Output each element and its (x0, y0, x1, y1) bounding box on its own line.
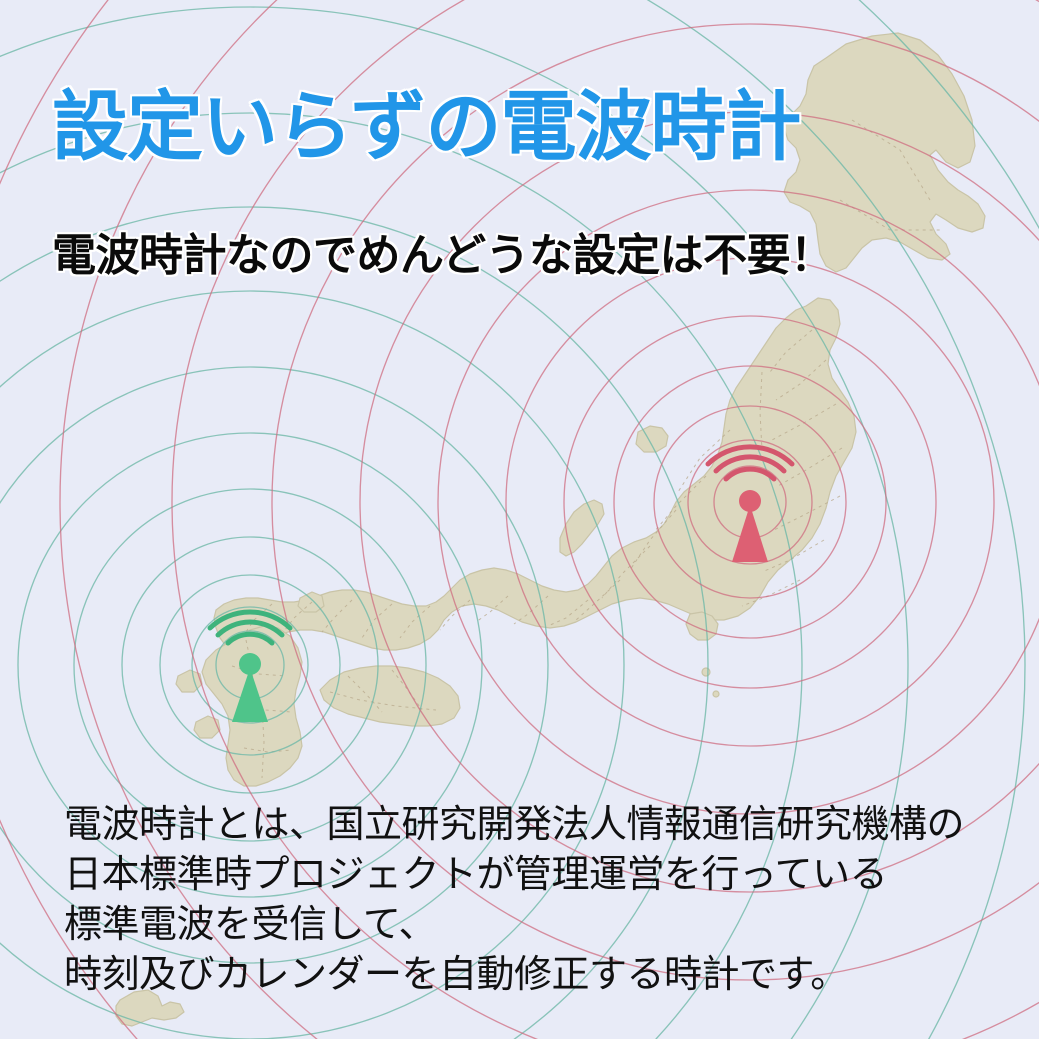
japan-radio-map-illustration (0, 0, 1039, 1039)
poster-canvas: 設定いらずの電波時計 電波時計なのでめんどうな設定は不要！ 電波時計とは、国立研… (0, 0, 1039, 1039)
islet-izu-2 (713, 691, 719, 697)
islet-izu-1 (702, 668, 710, 676)
